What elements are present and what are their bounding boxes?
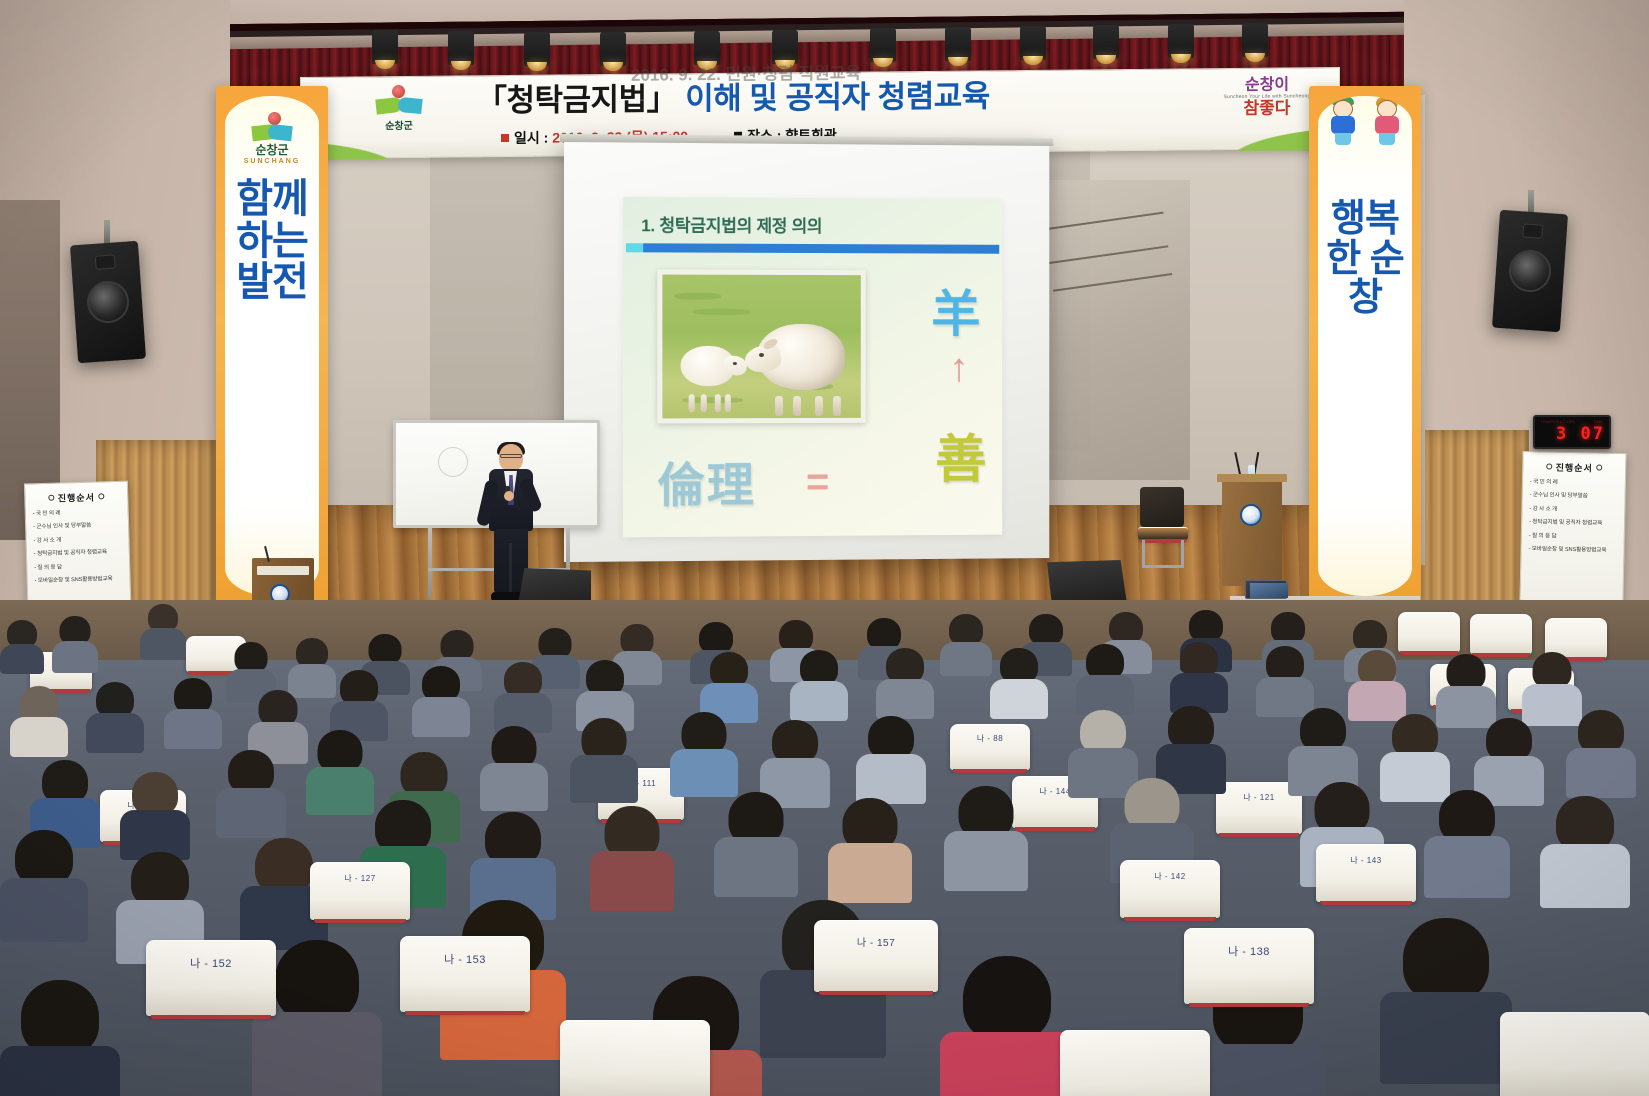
seat[interactable]: 나 - 138 (1184, 928, 1314, 1004)
vertical-banner-left-inner: 순창군 SUNCHANG 함께하는 발전 (225, 96, 319, 596)
stage-light-icon (448, 31, 474, 65)
program-item: 질 의 응 답 (1529, 533, 1617, 541)
seat-label: 나 - 157 (814, 934, 938, 949)
stage-light-icon (600, 32, 626, 66)
person-body (590, 851, 674, 911)
audience-person (760, 720, 830, 802)
woofer-icon (1508, 249, 1553, 294)
program-item: 국 민 의 례 (33, 509, 121, 518)
audience-person (52, 616, 98, 668)
hanja-good: 善 (935, 418, 986, 493)
banner-title: 「청탁금지법」 이해 및 공직자 청렴교육 (476, 76, 1176, 121)
person-body (1076, 675, 1134, 715)
lamb-leg (715, 394, 721, 412)
laptop-lid (1245, 580, 1287, 599)
hanja-ethics: 倫理 (657, 446, 756, 516)
audience-person (1170, 642, 1228, 708)
person-head (21, 980, 99, 1056)
audience-person (1348, 650, 1406, 716)
suncheon-logo: 순창군 (363, 87, 435, 148)
audience-person (714, 792, 798, 890)
audience-person (330, 670, 388, 736)
logo-leaf-blue-icon (267, 124, 292, 141)
grass-tuft (693, 309, 751, 315)
person-body (856, 754, 926, 804)
person-body (1380, 992, 1512, 1084)
mascot-body (1331, 116, 1355, 134)
person-body (1190, 1044, 1326, 1096)
stage-chair (1136, 487, 1190, 569)
vertical-banner-right: 행복한 순창 (1309, 86, 1421, 606)
program-item: 군수님 인사 및 당부말씀 (33, 522, 121, 531)
stage-light-icon (1093, 25, 1119, 59)
ring-icon (49, 495, 55, 501)
seat-label: 나 - 127 (310, 873, 410, 884)
person-body (940, 642, 992, 676)
audience-person (856, 716, 926, 798)
clock-display: 3 07 (1541, 424, 1605, 444)
podium-right (1222, 478, 1282, 586)
hanja-equals: = (806, 460, 829, 505)
logo-mark-icon (376, 89, 422, 115)
seat[interactable] (1398, 612, 1460, 652)
audience-person (1380, 714, 1450, 796)
seat[interactable]: 나 - 142 (1120, 860, 1220, 918)
program-item: 질 의 응 답 (34, 562, 122, 571)
audience-person (1566, 710, 1636, 792)
ring-icon (1547, 463, 1553, 469)
program-item: 모바일순창 및 SNS활용방법교육 (35, 576, 123, 585)
person-body (216, 788, 286, 838)
program-sign-title: 진행순서 (1530, 460, 1618, 475)
person-body (164, 709, 222, 749)
lamb-leg (725, 394, 731, 412)
backdrop-artwork (1030, 180, 1190, 480)
program-item: 청탁금지법 및 공직자 청렴교육 (34, 549, 122, 558)
stage-light-icon (1020, 26, 1046, 60)
ewe-leg (815, 396, 823, 416)
logo-sun-icon (268, 112, 281, 125)
audience-person (248, 690, 308, 758)
audience-person (306, 730, 374, 810)
sheep-photo-image (662, 275, 860, 419)
person-body (944, 831, 1028, 891)
grass-tuft (674, 293, 720, 300)
person-body (412, 697, 470, 737)
banner-title-part1: 「청탁금지법」 (476, 81, 677, 118)
audience-person (1380, 918, 1512, 1072)
audience-person (990, 648, 1048, 714)
person-body (714, 837, 798, 897)
laptop-screen (1250, 583, 1288, 598)
program-item: 청탁금지법 및 공직자 청렴교육 (1529, 519, 1617, 527)
ewe-sheep-icon (749, 320, 853, 404)
slogan-logo-bottom: 참좋다 (1217, 99, 1317, 119)
led-clock: TEMPERATURE TIME 3 07 (1533, 415, 1611, 449)
slide-divider (626, 243, 999, 254)
banner-title-part2: 이해 및 공직자 청렴교육 (677, 78, 990, 116)
person-head (275, 940, 359, 1022)
audience-area: 나 - 133 나 - 111 나 - 144 나 - 121 나 - 88 (0, 600, 1649, 1096)
ewe-leg (793, 396, 801, 416)
person-body (86, 713, 144, 753)
chair-legs (1142, 540, 1184, 568)
audience-person (790, 650, 848, 716)
seat[interactable]: 나 - 143 (1316, 844, 1416, 902)
person-body (570, 755, 638, 803)
program-item: 군수님 인사 및 당부말씀 (1530, 493, 1618, 501)
seat[interactable] (1060, 1030, 1210, 1096)
woofer-icon (86, 280, 131, 325)
vbanner-left-slogan: 함께하는 발전 (225, 179, 319, 304)
person-body (828, 843, 912, 903)
date-label: 일시 : (514, 130, 548, 146)
mascot-legs (1335, 133, 1351, 145)
stage-light-icon (372, 30, 398, 64)
audience-person (0, 980, 120, 1096)
ewe-leg (833, 396, 841, 416)
audience-person (288, 638, 336, 694)
mascot-boy-icon (1328, 100, 1358, 146)
auditorium-scene: 2016. 9. 22. 민원·청렴 직원교육 순창군 「청탁금지법」 이해 및… (0, 0, 1649, 1096)
audience-person (470, 812, 556, 912)
presenter-hand (504, 491, 514, 501)
program-item: 강 사 소 개 (33, 536, 121, 545)
stage-light-icon (945, 27, 971, 61)
hanja-arrow-icon: ↑ (949, 346, 969, 391)
audience-person (700, 652, 758, 718)
seat[interactable] (1470, 614, 1532, 654)
person-body (1540, 844, 1630, 908)
audience-person (10, 686, 68, 752)
seat-label: 나 - 142 (1120, 871, 1220, 882)
logo-county-name: 순창군 (363, 117, 435, 133)
audience-person (1156, 706, 1226, 788)
stage-light-icon (1168, 24, 1194, 58)
seat-label: 나 - 143 (1316, 855, 1416, 866)
audience-person (590, 806, 674, 904)
glasses-icon (500, 454, 522, 458)
logo-leaf-blue-icon (397, 97, 422, 114)
whiteboard-leg (428, 528, 432, 598)
stage-light-icon (870, 28, 896, 62)
person-body (480, 763, 548, 811)
projection-screen: 1. 청탁금지법의 제정 의의 (564, 140, 1049, 562)
program-item: 강 사 소 개 (1529, 506, 1617, 514)
tweeter-icon (95, 254, 116, 269)
vbanner-county-en: SUNCHANG (225, 158, 319, 165)
audience-person (828, 798, 912, 896)
person-body (10, 717, 68, 757)
seat[interactable]: 나 - 153 (400, 936, 530, 1012)
county-emblem-icon (1240, 504, 1262, 526)
audience-person (944, 786, 1028, 884)
tweeter-icon (1522, 223, 1543, 238)
audience-person (1288, 708, 1358, 790)
seat-label: 나 - 138 (1184, 943, 1314, 959)
person-body (252, 1012, 382, 1096)
person-body (52, 641, 98, 673)
vertical-banner-right-inner: 행복한 순창 (1318, 96, 1412, 596)
ring-icon (98, 493, 104, 499)
audience-person (1424, 790, 1510, 890)
program-title-text: 진행순서 (58, 493, 95, 504)
vbanner-logo: 순창군 SUNCHANG (225, 116, 319, 165)
slide-title: 1. 청탁금지법의 제정 의의 (641, 211, 822, 237)
audience-person (1076, 644, 1134, 710)
person-body (1566, 748, 1636, 798)
seat[interactable]: 나 - 127 (310, 862, 410, 920)
seat-label: 나 - 88 (950, 733, 1030, 744)
slogan-logo: 순창이 Suncheon Your Life with Suncheong 참좋… (1217, 76, 1317, 119)
lamb-eye (733, 362, 737, 365)
slogan-logo-top: 순창이 (1217, 76, 1317, 95)
audience-person (494, 662, 552, 728)
chair-back (1140, 487, 1184, 527)
audience-person (940, 614, 992, 672)
audience-person (0, 620, 44, 670)
podium-top (1217, 474, 1287, 482)
person-body (0, 1046, 120, 1096)
slide-photo (657, 270, 865, 424)
seat-label: 나 - 152 (146, 955, 276, 971)
seat[interactable] (560, 1020, 710, 1096)
stage-light-icon (1242, 23, 1268, 57)
audience-person (140, 604, 186, 656)
vbanner-county: 순창군 (225, 141, 319, 158)
audience-person (480, 726, 548, 806)
audience-person (576, 660, 634, 726)
audience-person (940, 956, 1074, 1096)
lamb-leg (701, 394, 707, 412)
person-body (990, 679, 1048, 719)
audience-person (1436, 654, 1496, 722)
presentation-slide: 1. 청탁금지법의 제정 의의 (623, 197, 1002, 538)
seat-label: 나 - 153 (400, 951, 530, 967)
pa-speaker-right (1492, 210, 1568, 332)
audience-person (1540, 796, 1630, 900)
stage-light-icon (524, 32, 550, 66)
person-body (940, 1032, 1074, 1096)
person-body (670, 749, 738, 797)
mascot-girl-icon (1372, 100, 1402, 146)
lamb-leg (689, 394, 695, 412)
audience-person (216, 750, 286, 832)
stage-monitor-right (1047, 560, 1127, 604)
ring-icon (1596, 464, 1602, 470)
lamb-sheep-icon (677, 340, 741, 402)
seat[interactable]: 나 - 157 (814, 920, 938, 992)
audience-person (0, 830, 88, 934)
seat[interactable]: 나 - 152 (146, 940, 276, 1016)
logo-mark-icon (252, 116, 292, 140)
mascot-legs (1379, 133, 1395, 145)
person-body (790, 681, 848, 721)
seat[interactable]: 나 - 88 (950, 724, 1030, 770)
whiteboard-doodle (438, 447, 468, 477)
program-sign-title: 진행순서 (32, 490, 120, 505)
chair-seat (1138, 527, 1188, 540)
program-title-text: 진행순서 (1556, 463, 1593, 474)
person-body (0, 878, 88, 942)
program-item: 국 민 의 례 (1530, 479, 1618, 487)
mascot-body (1375, 116, 1399, 134)
program-item: 모바일순창 및 SNS활용방법교육 (1528, 546, 1616, 554)
mascot-group (1318, 100, 1412, 154)
person-head (963, 956, 1051, 1042)
audience-person (670, 712, 738, 792)
person-body (1424, 836, 1510, 898)
audience-person (1256, 646, 1314, 712)
person-body (876, 679, 934, 719)
hanja-sheep: 羊 (931, 274, 980, 346)
logo-sun-icon (392, 85, 405, 98)
pa-speaker-left (70, 241, 146, 363)
seat[interactable] (1500, 1012, 1649, 1096)
audience-person (876, 648, 934, 714)
person-body (140, 628, 186, 660)
audience-person (412, 666, 470, 732)
program-sign-right: 진행순서 국 민 의 례 군수님 인사 및 당부말씀 강 사 소 개 청탁금지법… (1519, 451, 1626, 603)
person-head (1403, 918, 1489, 1002)
audience-person (570, 718, 638, 798)
ewe-eye (759, 353, 764, 357)
podium-top (257, 566, 309, 575)
audience-person (1474, 718, 1544, 800)
vertical-banner-left: 순창군 SUNCHANG 함께하는 발전 (216, 86, 328, 606)
audience-person (86, 682, 144, 748)
bullet-red-icon (501, 134, 509, 142)
audience-person (120, 772, 190, 854)
vbanner-right-slogan: 행복한 순창 (1318, 200, 1412, 319)
audience-person (164, 678, 222, 744)
ewe-leg (775, 396, 783, 416)
person-body (0, 644, 44, 674)
